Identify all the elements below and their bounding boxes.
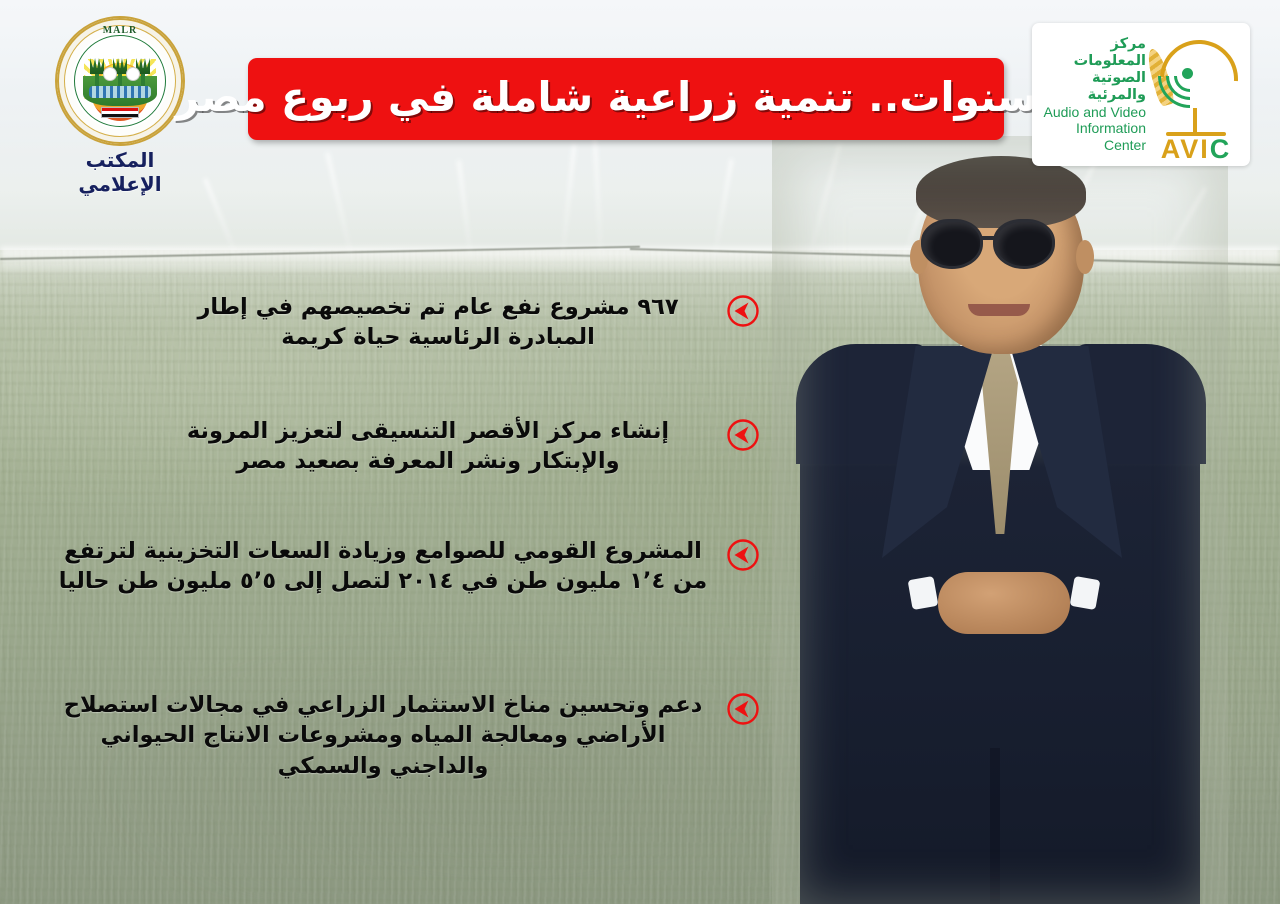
list-item: المشروع القومي للصوامع وزيادة السعات الت… (50, 536, 760, 597)
list-item-text: المشروع القومي للصوامع وزيادة السعات الت… (50, 536, 716, 597)
red-left-arrow-icon (726, 538, 760, 572)
list-item-text: إنشاء مركز الأقصر التنسيقى لتعزيز المرون… (140, 416, 716, 477)
poster-canvas: MALR المكتب الإعلامي ٨ سنوات.. تنمية زرا… (0, 0, 1280, 904)
list-item: ٩٦٧ مشروع نفع عام تم تخصيصهم في إطار الم… (160, 292, 760, 353)
red-left-arrow-icon (726, 418, 760, 452)
list-item: إنشاء مركز الأقصر التنسيقى لتعزيز المرون… (140, 416, 760, 477)
list-item-text: ٩٦٧ مشروع نفع عام تم تخصيصهم في إطار الم… (160, 292, 716, 353)
bullet-list: ٩٦٧ مشروع نفع عام تم تخصيصهم في إطار الم… (0, 0, 1280, 904)
red-left-arrow-icon (726, 294, 760, 328)
list-item-text: دعم وتحسين مناخ الاستثمار الزراعي في مجا… (50, 690, 716, 781)
red-left-arrow-icon (726, 692, 760, 726)
list-item: دعم وتحسين مناخ الاستثمار الزراعي في مجا… (50, 690, 760, 781)
